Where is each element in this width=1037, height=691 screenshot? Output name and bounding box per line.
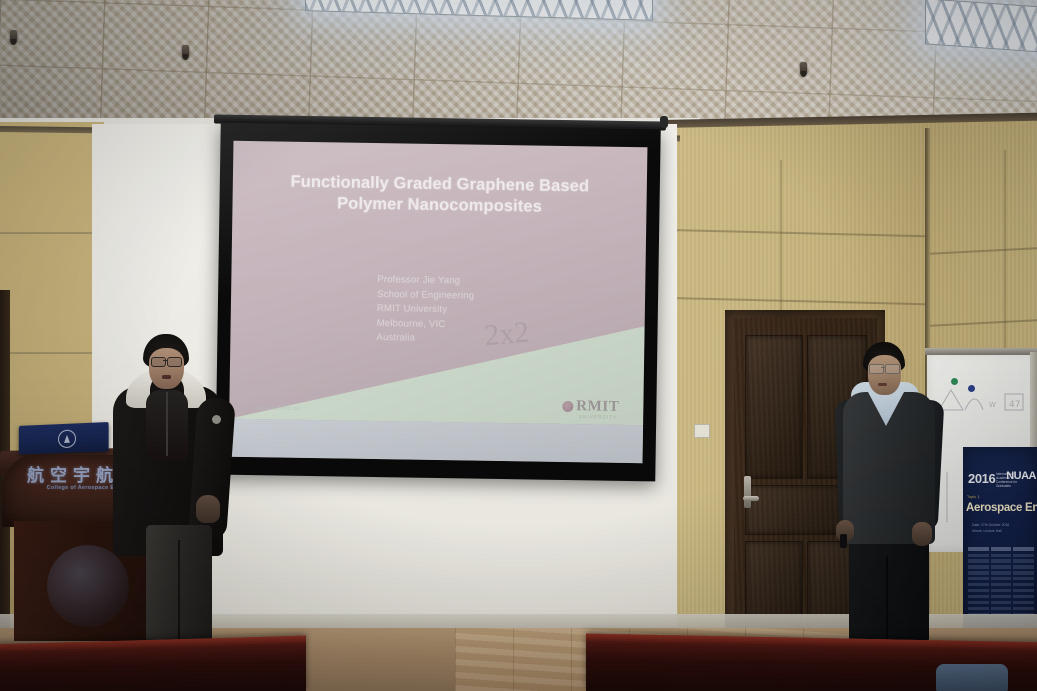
wall-seam — [0, 352, 104, 354]
banner-schedule-row — [968, 577, 1034, 580]
banner-schedule-row — [968, 559, 1034, 562]
banner-organizer: NUAA — [1006, 470, 1036, 482]
schedule-cell — [991, 583, 1012, 586]
schedule-cell — [991, 589, 1012, 592]
attendee-glasses-bridge — [881, 367, 886, 368]
attendee-leg-seam — [886, 556, 888, 644]
presenter-glasses-right-lens — [167, 357, 182, 367]
schedule-cell — [968, 577, 989, 580]
presentation-clicker[interactable] — [840, 534, 847, 548]
banner-schedule-row — [968, 607, 1034, 610]
schedule-cell — [991, 607, 1012, 610]
svg-text:47: 47 — [1009, 400, 1020, 410]
schedule-cell — [991, 577, 1012, 580]
sprinkler-head-right — [800, 62, 807, 75]
presenter-jacket-zipper — [166, 392, 168, 456]
schedule-cell — [1013, 559, 1034, 562]
rmit-university-subtitle: UNIVERSITY — [579, 414, 618, 420]
banner-topic-label: Topic 1 — [967, 495, 980, 499]
schedule-cell — [968, 589, 989, 592]
banner-schedule-table — [968, 547, 1034, 618]
slide-country: Australia — [376, 331, 473, 347]
schedule-cell — [991, 601, 1012, 604]
schedule-cell — [968, 554, 989, 557]
sprinkler-head-left — [10, 30, 17, 43]
projection-screen: Functionally Graded Graphene Based Polym… — [215, 123, 660, 482]
schedule-cell — [968, 583, 989, 586]
door-handle-plate[interactable] — [744, 476, 751, 508]
attendee-face — [868, 355, 901, 395]
schedule-cell — [1013, 601, 1034, 604]
banner-meta-venue: Venue: Lecture Hall — [972, 529, 1009, 535]
banner-schedule-row — [968, 595, 1034, 598]
schedule-cell — [1013, 589, 1034, 592]
schedule-cell — [1013, 577, 1034, 580]
slide-watermark: 2x2 — [483, 315, 538, 355]
schedule-cell — [968, 559, 989, 562]
door-handle-lever[interactable] — [743, 496, 759, 501]
schedule-cell — [968, 601, 989, 604]
slide-author-block: Professor Jie Yang School of Engineering… — [376, 273, 474, 347]
attendee-right-hand — [912, 522, 932, 546]
rmit-wordmark: RMIT — [576, 399, 619, 415]
svg-text:W: W — [989, 401, 996, 409]
lecture-hall-photo: Functionally Graded Graphene Based Polym… — [0, 0, 1037, 691]
presenter-hand — [196, 495, 220, 523]
banner-schedule-row — [968, 583, 1034, 586]
podium-emblem — [47, 545, 129, 627]
chair-back — [936, 664, 1008, 691]
banner-schedule-row — [968, 554, 1034, 557]
banner-topic: Aerospace Engineering — [966, 502, 1037, 514]
presenter-mouth — [162, 375, 171, 379]
slide-title: Functionally Graded Graphene Based Polym… — [232, 171, 647, 220]
slide-bottom-band — [229, 419, 644, 463]
wall-seam — [0, 232, 104, 234]
schedule-header-cell — [991, 547, 1012, 551]
banner-year: 2016 — [968, 471, 995, 486]
presenter-glasses-left-lens — [151, 357, 166, 367]
attendee-glasses-right-lens — [885, 364, 900, 374]
schedule-cell — [991, 565, 1012, 568]
right-wall-vertical-seam — [1004, 150, 1006, 350]
attendee-glasses-left-lens — [869, 364, 884, 374]
presenter-badge — [212, 415, 221, 424]
attendee-mouth — [878, 383, 887, 386]
schedule-cell — [991, 554, 1012, 557]
slide-school: School of Engineering — [377, 288, 474, 304]
nuaa-emblem-icon — [58, 429, 76, 448]
schedule-cell — [1013, 571, 1034, 574]
banner-schedule-row — [968, 589, 1034, 592]
schedule-header-cell — [968, 547, 989, 551]
schedule-cell — [968, 607, 989, 610]
schedule-cell — [1013, 607, 1034, 610]
schedule-cell — [991, 595, 1012, 598]
schedule-cell — [968, 571, 989, 574]
schedule-cell — [1013, 595, 1034, 598]
schedule-cell — [1013, 554, 1034, 557]
banner-schedule-row — [968, 601, 1034, 604]
rmit-logo: RMIT UNIVERSITY — [562, 399, 619, 415]
ceiling-shading — [0, 0, 1037, 132]
schedule-cell — [968, 595, 989, 598]
door-panel-upper-left — [746, 336, 802, 478]
wall-outlet — [694, 424, 710, 438]
banner-meta: Date: 27th October 2016 Venue: Lecture H… — [972, 523, 1009, 535]
banner-schedule-row — [968, 565, 1034, 568]
presentation-slide: Functionally Graded Graphene Based Polym… — [229, 141, 648, 463]
banner-schedule-header-row — [968, 547, 1034, 551]
slide-author-name: Professor Jie Yang — [377, 273, 474, 289]
schedule-header-cell — [1013, 547, 1034, 551]
sprinkler-head-mid — [182, 45, 189, 58]
schedule-cell — [1013, 583, 1034, 586]
schedule-cell — [991, 571, 1012, 574]
screen-roller-knob — [660, 116, 668, 128]
schedule-cell — [991, 559, 1012, 562]
schedule-cell — [1013, 565, 1034, 568]
laptop[interactable] — [19, 422, 109, 454]
slide-url: www.rmit.edu.au — [256, 405, 299, 412]
presenter-glasses-bridge — [163, 360, 168, 361]
slide-university: RMIT University — [377, 302, 474, 318]
banner-schedule-row — [968, 571, 1034, 574]
slide-city: Melbourne, VIC — [377, 317, 474, 333]
presenter-leg-seam — [178, 540, 180, 640]
attendee-legs — [849, 534, 929, 644]
rmit-cog-icon — [562, 401, 573, 412]
schedule-cell — [968, 565, 989, 568]
banner-meta-date: Date: 27th October 2016 — [972, 523, 1009, 529]
presenter-face — [149, 348, 184, 389]
